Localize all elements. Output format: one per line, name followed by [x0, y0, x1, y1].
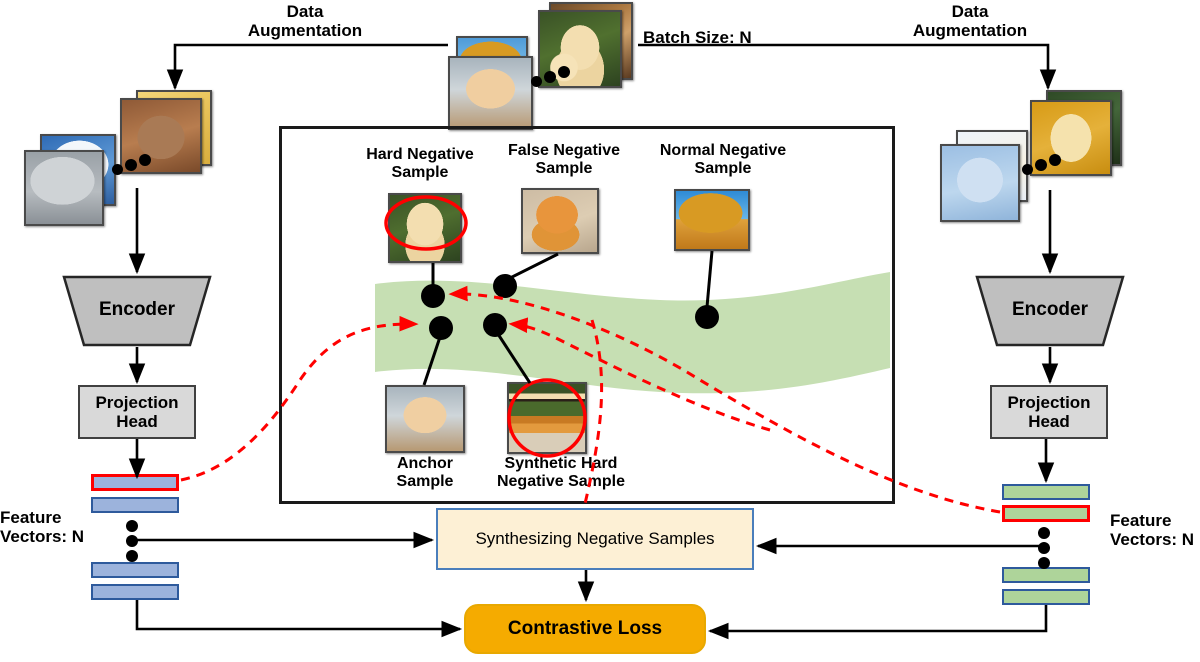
false-negative-caption: False Negative Sample	[497, 142, 631, 177]
left-feature-vector-ellipsis	[126, 520, 144, 560]
right-feature-vector-highlighted[interactable]	[1002, 505, 1090, 522]
right-feature-vector-4[interactable]	[1002, 589, 1090, 605]
left-feature-vectors-label: Feature Vectors: N	[0, 508, 88, 546]
right-augmented-image-stack	[930, 90, 1130, 215]
right-projection-head-label: Projection Head	[1007, 393, 1090, 431]
synthesizing-negative-samples-box[interactable]: Synthesizing Negative Samples	[436, 508, 754, 570]
synthetic-hard-negative-sample-photo[interactable]	[507, 382, 587, 454]
hard-negative-sample-photo[interactable]	[388, 193, 462, 263]
left-feature-vector-4[interactable]	[91, 584, 179, 600]
left-encoder-label: Encoder	[62, 299, 212, 320]
embedding-dot-false-negative	[493, 274, 517, 298]
arrow-batch-to-left-aug	[175, 45, 448, 88]
right-data-augmentation-label: Data Augmentation	[880, 2, 1060, 40]
batch-image-stack	[448, 2, 638, 117]
left-feature-vector-highlighted[interactable]	[91, 474, 179, 491]
left-feature-vector-3[interactable]	[91, 562, 179, 578]
embedding-dot-hard-negative	[421, 284, 445, 308]
batch-photo-kitten	[448, 56, 533, 130]
arrow-left-features-to-loss	[137, 600, 460, 629]
right-feature-vector-1[interactable]	[1002, 484, 1090, 500]
embedding-dot-synthetic	[483, 313, 507, 337]
right-encoder-box[interactable]: Encoder	[975, 275, 1125, 347]
left-augmented-image-stack	[10, 90, 210, 215]
right-aug-stack-ellipsis-dots	[1022, 152, 1062, 174]
right-feature-vector-ellipsis	[1038, 527, 1056, 567]
right-projection-head-box[interactable]: Projection Head	[990, 385, 1108, 439]
right-encoder-label: Encoder	[975, 299, 1125, 320]
embedding-dot-anchor	[429, 316, 453, 340]
embedding-dot-normal-negative	[695, 305, 719, 329]
left-projection-head-label: Projection Head	[95, 393, 178, 431]
batch-size-label: Batch Size: N	[643, 28, 773, 47]
embedding-space-panel	[279, 126, 895, 504]
batch-stack-ellipsis-dots	[531, 64, 571, 84]
normal-negative-caption: Normal Negative Sample	[650, 142, 796, 177]
anchor-caption: Anchor Sample	[375, 455, 475, 490]
right-feature-vector-3[interactable]	[1002, 567, 1090, 583]
synthetic-hard-negative-caption: Synthetic Hard Negative Sample	[486, 455, 636, 490]
left-data-augmentation-label: Data Augmentation	[215, 2, 395, 40]
false-negative-sample-photo[interactable]	[521, 188, 599, 254]
contrastive-loss-box[interactable]: Contrastive Loss	[464, 604, 706, 654]
left-projection-head-box[interactable]: Projection Head	[78, 385, 196, 439]
diagram-canvas: Data Augmentation Data Augmentation Batc…	[0, 0, 1200, 662]
left-aug-photo-tree-winter	[24, 150, 104, 226]
left-feature-vector-2[interactable]	[91, 497, 179, 513]
contrastive-loss-label: Contrastive Loss	[508, 618, 662, 640]
arrow-batch-to-right-aug	[638, 45, 1048, 88]
right-aug-photo-kitten-blue	[940, 144, 1020, 222]
arrow-right-features-to-loss	[710, 605, 1046, 631]
synthesizing-negative-samples-label: Synthesizing Negative Samples	[475, 529, 714, 549]
normal-negative-sample-photo[interactable]	[674, 189, 750, 251]
left-encoder-box[interactable]: Encoder	[62, 275, 212, 347]
anchor-sample-photo[interactable]	[385, 385, 465, 453]
right-feature-vectors-label: Feature Vectors: N	[1110, 511, 1200, 549]
hard-negative-caption: Hard Negative Sample	[355, 146, 485, 181]
left-aug-stack-ellipsis-dots	[112, 152, 152, 174]
